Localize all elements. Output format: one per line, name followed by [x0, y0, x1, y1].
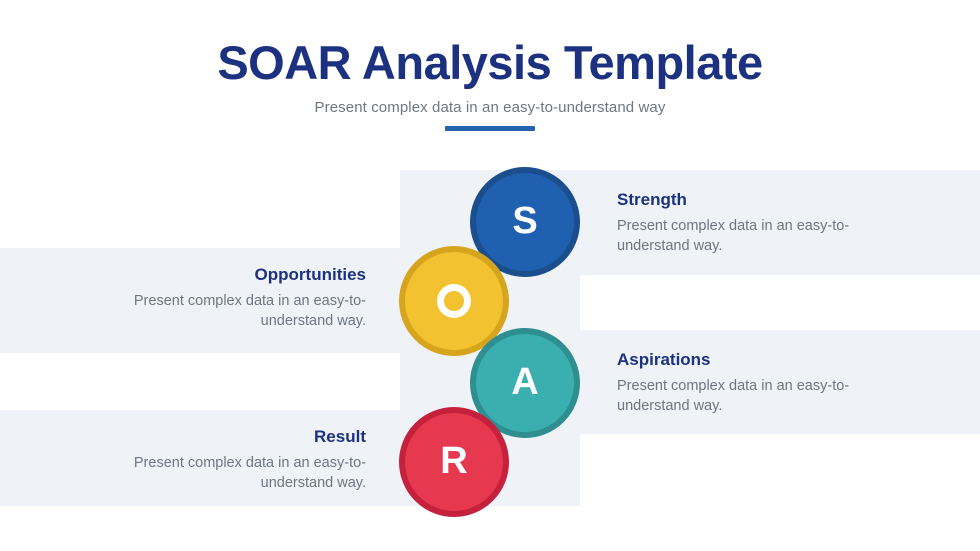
letter-o-glyph: [437, 284, 471, 318]
letter-s-glyph: S: [512, 202, 537, 240]
title-divider: [445, 126, 535, 131]
item-aspirations-description: Present complex data in an easy-to-under…: [617, 377, 892, 416]
letter-a-glyph: A: [511, 363, 538, 401]
item-strength-title: Strength: [617, 190, 892, 210]
item-result-text: Result Present complex data in an easy-t…: [90, 427, 366, 493]
item-opportunities-description: Present complex data in an easy-to-under…: [90, 292, 366, 331]
item-strength-description: Present complex data in an easy-to-under…: [617, 217, 892, 256]
item-opportunities-text: Opportunities Present complex data in an…: [90, 265, 366, 331]
item-result-title: Result: [90, 427, 366, 447]
item-aspirations-title: Aspirations: [617, 350, 892, 370]
page-title: SOAR Analysis Template: [0, 38, 980, 87]
item-result-description: Present complex data in an easy-to-under…: [90, 454, 366, 493]
page-subtitle: Present complex data in an easy-to-under…: [0, 98, 980, 118]
item-opportunities-title: Opportunities: [90, 265, 366, 285]
circle-badge-result[interactable]: R: [399, 407, 509, 517]
item-aspirations-text: Aspirations Present complex data in an e…: [617, 350, 892, 416]
soar-analysis-slide: SOAR Analysis Template Present complex d…: [0, 0, 980, 551]
item-strength-text: Strength Present complex data in an easy…: [617, 190, 892, 256]
letter-r-glyph: R: [440, 442, 467, 480]
